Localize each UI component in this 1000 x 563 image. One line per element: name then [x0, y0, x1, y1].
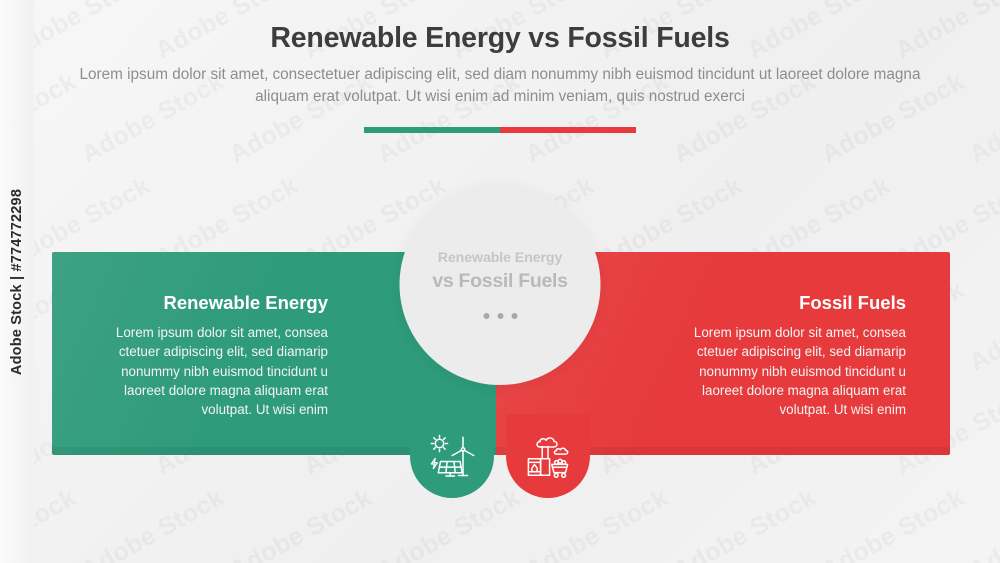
center-circle-dots	[483, 313, 517, 319]
header: Renewable Energy vs Fossil Fuels Lorem i…	[0, 22, 1000, 108]
panel-heading-fossil: Fossil Fuels	[672, 292, 906, 314]
divider-right-half	[500, 127, 636, 133]
center-circle-line-2: vs Fossil Fuels	[432, 269, 567, 294]
dot	[497, 313, 503, 319]
watermark-tile: Adobe Stock	[817, 483, 970, 563]
dot	[511, 313, 517, 319]
watermark-tile: Adobe Stock	[225, 483, 378, 563]
watermark-label-text: Adobe Stock | #774772298	[9, 188, 25, 374]
center-circle-line-1: Renewable Energy	[438, 250, 563, 268]
panel-body-renewable: Lorem ipsum dolor sit amet, consea ctetu…	[92, 323, 328, 419]
infographic-canvas: Adobe StockAdobe StockAdobe StockAdobe S…	[0, 0, 1000, 563]
badge-fossil-fuels[interactable]	[506, 414, 590, 498]
watermark-tile: Adobe Stock	[965, 483, 1000, 563]
page-subtitle: Lorem ipsum dolor sit amet, consectetuer…	[71, 64, 929, 108]
divider-left-half	[364, 127, 500, 133]
solar-wind-energy-icon	[427, 433, 477, 479]
dot	[483, 313, 489, 319]
panel-heading-renewable: Renewable Energy	[92, 292, 328, 314]
watermark-tile: Adobe Stock	[77, 483, 230, 563]
watermark-tile: Adobe Stock	[965, 275, 1000, 377]
panel-body-fossil: Lorem ipsum dolor sit amet, consea ctetu…	[672, 323, 906, 419]
center-circle: Renewable Energy vs Fossil Fuels	[400, 184, 601, 385]
factory-oil-coal-icon	[523, 433, 573, 479]
badge-renewable-energy[interactable]	[410, 414, 494, 498]
watermark-tile: Adobe Stock	[669, 483, 822, 563]
page-title: Renewable Energy vs Fossil Fuels	[0, 22, 1000, 56]
watermark-label: Adobe Stock | #774772298	[0, 0, 34, 563]
two-tone-divider	[364, 127, 636, 133]
